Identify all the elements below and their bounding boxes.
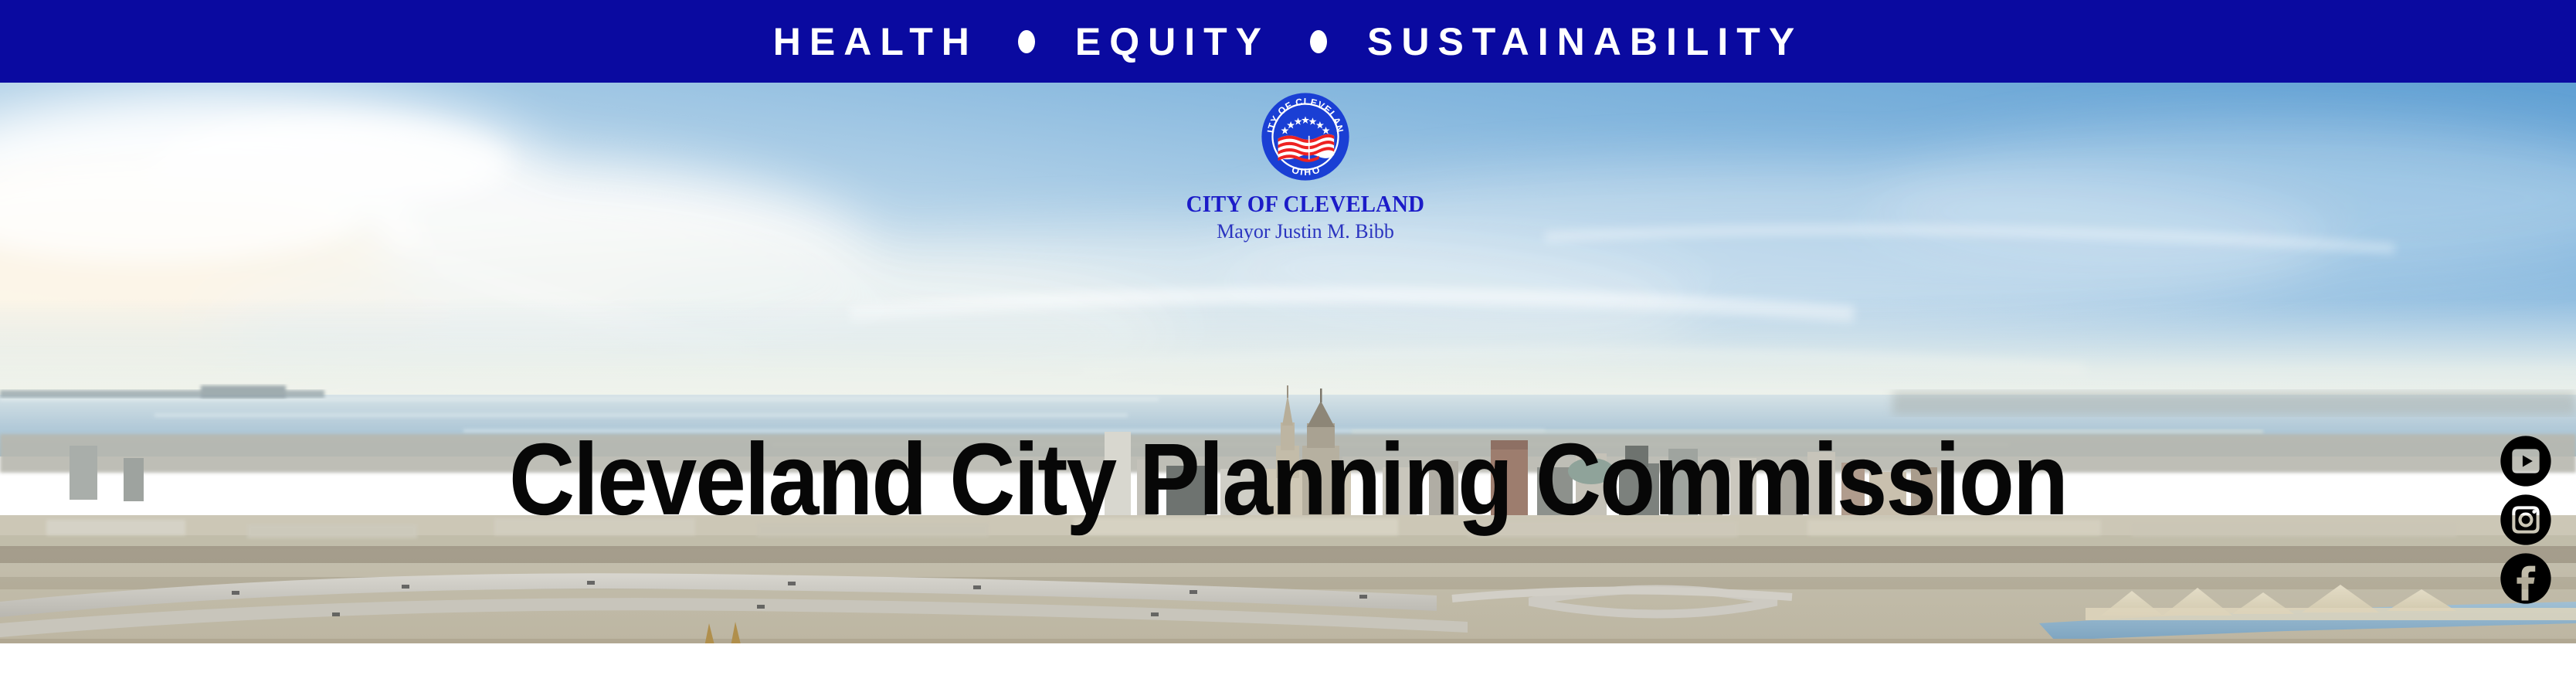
tagline-word-equity: EQUITY [1075, 22, 1270, 61]
mayor-name-label: Mayor Justin M. Bibb [1217, 222, 1394, 242]
instagram-icon[interactable] [2500, 494, 2552, 546]
tagline-bullet-dot-2 [1310, 30, 1327, 53]
social-links [2500, 435, 2552, 605]
facebook-icon[interactable] [2500, 552, 2552, 605]
tagline-banner: HEALTH EQUITY SUSTAINABILITY [0, 0, 2576, 83]
youtube-icon[interactable] [2500, 435, 2552, 487]
tagline-inner: HEALTH EQUITY SUSTAINABILITY [773, 22, 1803, 61]
tagline-word-health: HEALTH [773, 22, 978, 61]
page-root: HEALTH EQUITY SUSTAINABILITY [0, 0, 2576, 682]
tagline-bullet-dot-1 [1018, 30, 1035, 53]
page-title: Cleveland City Planning Commission [0, 429, 2576, 531]
city-branding-block: CITY OF CLEVELAND OHIO [1143, 91, 1468, 253]
city-of-cleveland-label: CITY OF CLEVELAND [1186, 192, 1425, 215]
bottom-white-strip [0, 643, 2576, 682]
city-of-cleveland-seal: CITY OF CLEVELAND OHIO [1260, 91, 1351, 182]
tagline-word-sustainability: SUSTAINABILITY [1367, 22, 1803, 61]
